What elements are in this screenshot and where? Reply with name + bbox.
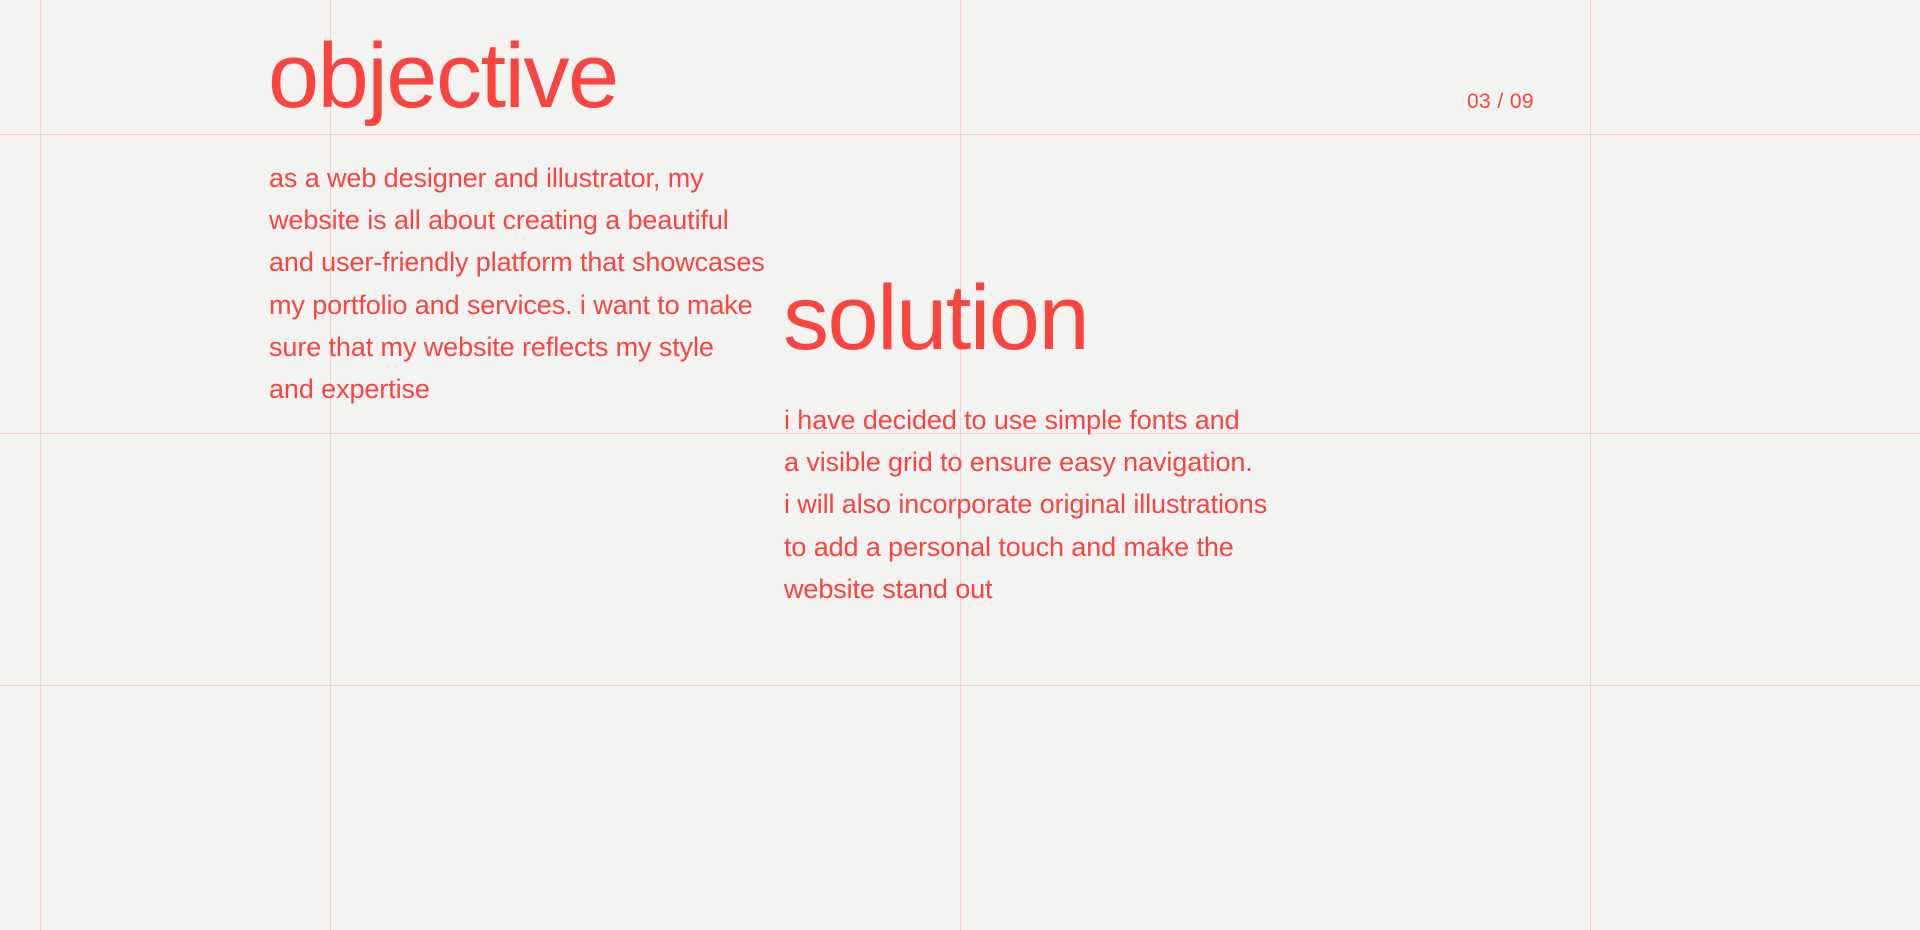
grid-line-vertical-4 <box>1590 0 1591 930</box>
solution-heading: solution <box>783 272 1088 364</box>
objective-heading: objective <box>268 30 618 122</box>
objective-line: my portfolio and services. i want to mak… <box>269 284 765 326</box>
objective-line: as a web designer and illustrator, my <box>269 157 765 199</box>
objective-line: and expertise <box>269 368 765 410</box>
solution-line: a visible grid to ensure easy navigation… <box>784 441 1267 483</box>
page-counter: 03 / 09 <box>1467 90 1534 114</box>
grid-line-horizontal-1 <box>0 134 1920 135</box>
solution-line: i will also incorporate original illustr… <box>784 483 1267 525</box>
objective-line: and user-friendly platform that showcase… <box>269 241 765 283</box>
solution-line: i have decided to use simple fonts and <box>784 399 1267 441</box>
solution-line: website stand out <box>784 568 1267 610</box>
objective-line: sure that my website reflects my style <box>269 326 765 368</box>
objective-paragraph: as a web designer and illustrator, my we… <box>269 157 765 410</box>
grid-line-vertical-2 <box>330 0 331 930</box>
grid-line-horizontal-3 <box>0 685 1920 686</box>
slide-canvas: 03 / 09 objective as a web designer and … <box>0 0 1920 930</box>
grid-line-vertical-1 <box>40 0 41 930</box>
objective-line: website is all about creating a beautifu… <box>269 199 765 241</box>
solution-paragraph: i have decided to use simple fonts and a… <box>784 399 1267 610</box>
solution-line: to add a personal touch and make the <box>784 526 1267 568</box>
